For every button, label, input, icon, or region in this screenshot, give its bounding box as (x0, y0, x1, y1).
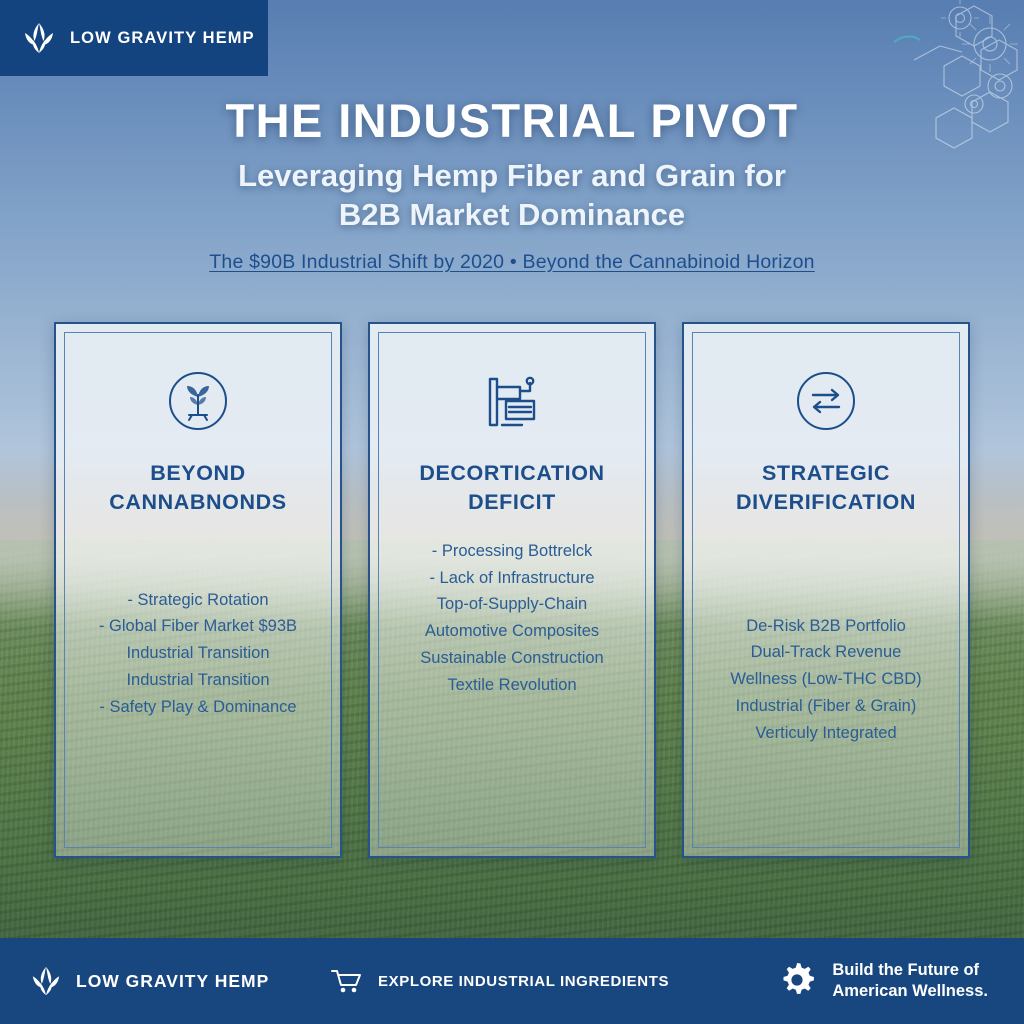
plant-in-circle-icon (162, 365, 234, 437)
list-item: Automotive Composites (387, 618, 637, 645)
feature-cards: BEYOND CANNABNONDS - Strategic Rotation … (54, 322, 970, 858)
card-title: DECORTICATION DEFICIT (409, 459, 614, 517)
list-item: Industrial Transition (73, 640, 323, 667)
list-item: Industrial (Fiber & Grain) (701, 693, 951, 720)
footer-bar: LOW GRAVITY HEMP EXPLORE INDUSTRIAL INGR… (0, 938, 1024, 1024)
card-title-line2: DIVERIFICATION (736, 488, 916, 517)
list-item: - Strategic Rotation (73, 587, 323, 614)
card-beyond-cannabinoids[interactable]: BEYOND CANNABNONDS - Strategic Rotation … (54, 322, 342, 858)
card-title: STRATEGIC DIVERIFICATION (726, 459, 926, 517)
gear-icon (776, 960, 818, 1002)
footer-tagline: Build the Future of American Wellness. (776, 960, 1024, 1003)
card-decortication-deficit[interactable]: DECORTICATION DEFICIT - Processing Bottr… (368, 322, 656, 858)
card-title-line2: DEFICIT (419, 488, 604, 517)
footer-tagline-line1: Build the Future of (832, 960, 988, 981)
card-title-line1: BEYOND (109, 459, 286, 488)
hemp-leaf-icon (22, 19, 56, 57)
footer-tagline-line2: American Wellness. (832, 981, 988, 1002)
card-bullet-list: - Processing Bottrelck - Lack of Infrast… (379, 538, 645, 847)
card-strategic-diversification[interactable]: STRATEGIC DIVERIFICATION De-Risk B2B Por… (682, 322, 970, 858)
card-bullet-list: De-Risk B2B Portfolio Dual-Track Revenue… (693, 613, 959, 847)
list-item: - Lack of Infrastructure (387, 565, 637, 592)
list-item: - Safety Play & Dominance (73, 694, 323, 721)
card-title-line1: STRATEGIC (736, 459, 916, 488)
list-item: Top-of-Supply-Chain (387, 591, 637, 618)
list-item: Industrial Transition (73, 667, 323, 694)
card-title: BEYOND CANNABNONDS (99, 459, 296, 517)
footer-brand[interactable]: LOW GRAVITY HEMP (0, 963, 330, 999)
page-title: THE INDUSTRIAL PIVOT (0, 96, 1024, 145)
card-inner-frame: DECORTICATION DEFICIT - Processing Bottr… (378, 332, 646, 848)
card-title-line2: CANNABNONDS (109, 488, 286, 517)
list-item: Textile Revolution (387, 672, 637, 699)
card-bullet-list: - Strategic Rotation - Global Fiber Mark… (65, 587, 331, 847)
page-kicker: The $90B Industrial Shift by 2020 • Beyo… (0, 251, 1024, 274)
card-title-line1: DECORTICATION (419, 459, 604, 488)
list-item: Verticuly Integrated (701, 720, 951, 747)
list-item: Wellness (Low-THC CBD) (701, 666, 951, 693)
footer-brand-text: LOW GRAVITY HEMP (76, 971, 269, 992)
two-way-arrows-icon (790, 365, 862, 437)
card-inner-frame: STRATEGIC DIVERIFICATION De-Risk B2B Por… (692, 332, 960, 848)
logo-text: LOW GRAVITY HEMP (70, 29, 255, 48)
list-item: De-Risk B2B Portfolio (701, 613, 951, 640)
hemp-leaf-icon (30, 963, 62, 999)
logo-badge[interactable]: LOW GRAVITY HEMP (0, 0, 268, 76)
list-item: - Global Fiber Market $93B (73, 613, 323, 640)
card-inner-frame: BEYOND CANNABNONDS - Strategic Rotation … (64, 332, 332, 848)
shopping-cart-icon (330, 967, 364, 995)
page-subtitle-line2: B2B Market Dominance (0, 196, 1024, 235)
list-item: Sustainable Construction (387, 645, 637, 672)
footer-cta[interactable]: EXPLORE INDUSTRIAL INGREDIENTS (330, 967, 680, 995)
list-item: - Processing Bottrelck (387, 538, 637, 565)
page-subtitle: Leveraging Hemp Fiber and Grain for B2B … (0, 157, 1024, 235)
page-subtitle-line1: Leveraging Hemp Fiber and Grain for (0, 157, 1024, 196)
footer-cta-text: EXPLORE INDUSTRIAL INGREDIENTS (378, 973, 669, 990)
decorticator-machine-icon (476, 365, 548, 437)
headline-block: THE INDUSTRIAL PIVOT Leveraging Hemp Fib… (0, 96, 1024, 274)
list-item: Dual-Track Revenue (701, 639, 951, 666)
